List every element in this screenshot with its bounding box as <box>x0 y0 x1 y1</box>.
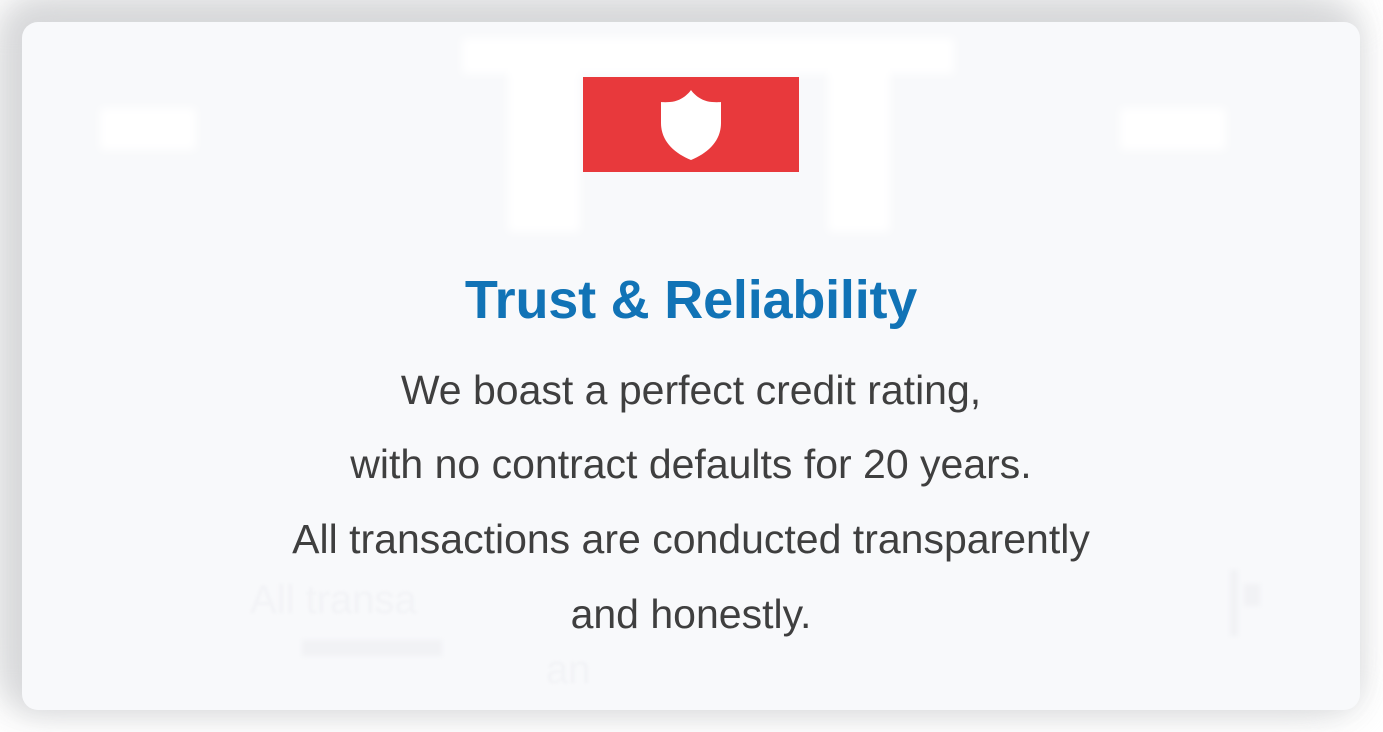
body-copy: We boast a perfect credit rating, with n… <box>22 353 1360 651</box>
body-line: and honestly. <box>22 577 1360 652</box>
body-line: We boast a perfect credit rating, <box>22 353 1360 428</box>
body-line: with no contract defaults for 20 years. <box>22 427 1360 502</box>
ghost-text-fragment-2: an <box>546 648 591 693</box>
card-content: Trust & Reliability We boast a perfect c… <box>22 272 1360 651</box>
screenshot-stage: All transa an Trust & Reliability We boa… <box>0 0 1383 732</box>
trust-reliability-card: All transa an Trust & Reliability We boa… <box>22 22 1360 710</box>
ghost-rect-top <box>462 38 954 74</box>
icon-container <box>22 77 1360 172</box>
shield-icon <box>660 89 722 161</box>
shield-badge <box>583 77 799 172</box>
page-title: Trust & Reliability <box>22 272 1360 329</box>
body-line: All transactions are conducted transpare… <box>22 502 1360 577</box>
